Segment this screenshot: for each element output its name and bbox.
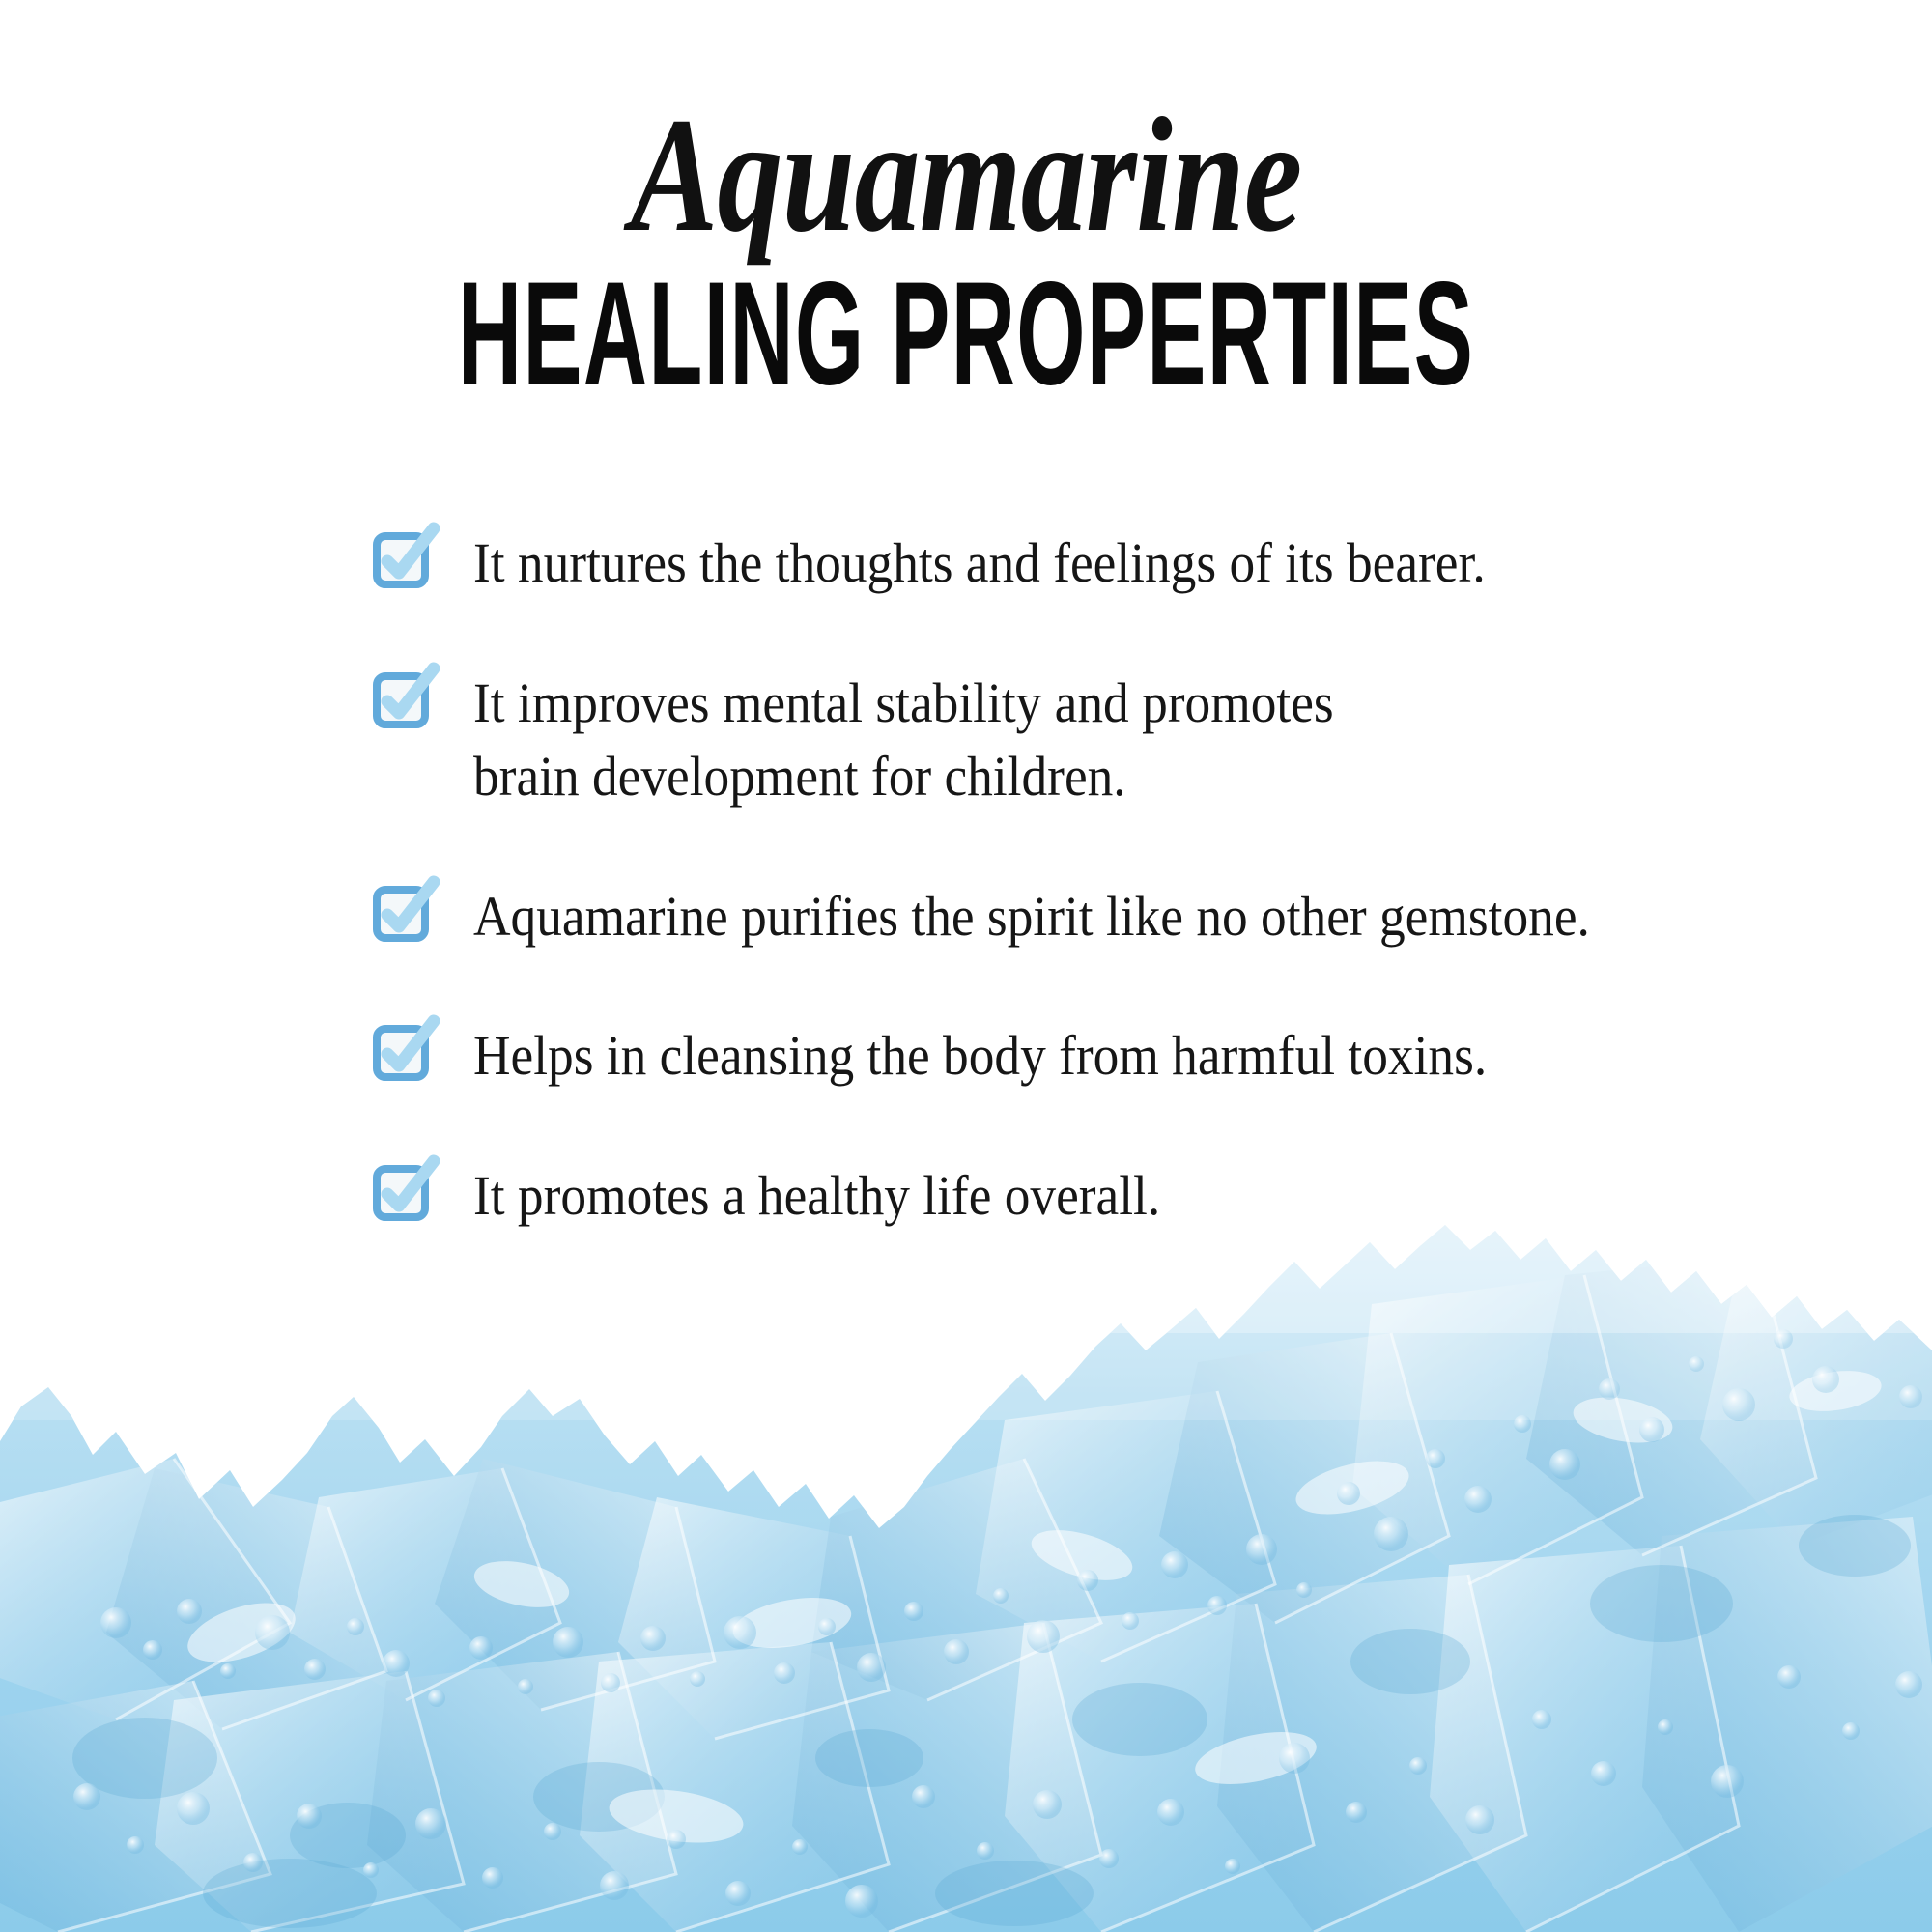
list-item-label: It nurtures the thoughts and feelings of…: [473, 526, 1486, 601]
ice-cubes-photo: [0, 1217, 1932, 1932]
poster-header: Aquamarine HEALING PROPERTIES: [0, 0, 1932, 406]
checkbox-checked-icon: [377, 886, 433, 942]
ice-cubes-illustration: [0, 1217, 1932, 1932]
checkbox-checked-icon: [377, 672, 433, 728]
checkbox-checked-icon: [377, 1165, 433, 1221]
healing-properties-list: It nurtures the thoughts and feelings of…: [377, 526, 1845, 1233]
poster-canvas: Aquamarine HEALING PROPERTIES It nurture…: [0, 0, 1932, 1932]
list-item: Aquamarine purifies the spirit like no o…: [377, 880, 1845, 954]
list-item-label: Aquamarine purifies the spirit like no o…: [473, 880, 1590, 954]
list-item-label: Helps in cleansing the body from harmful…: [473, 1019, 1487, 1094]
list-item: It nurtures the thoughts and feelings of…: [377, 526, 1845, 601]
checkbox-checked-icon: [377, 1025, 433, 1081]
list-item-label: It improves mental stability and promote…: [473, 667, 1334, 814]
page-title-subheading: HEALING PROPERTIES: [367, 261, 1565, 408]
list-item: It improves mental stability and promote…: [377, 667, 1845, 814]
checkbox-checked-icon: [377, 532, 433, 588]
list-item: Helps in cleansing the body from harmful…: [377, 1019, 1845, 1094]
page-title-script: Aquamarine: [193, 93, 1739, 257]
